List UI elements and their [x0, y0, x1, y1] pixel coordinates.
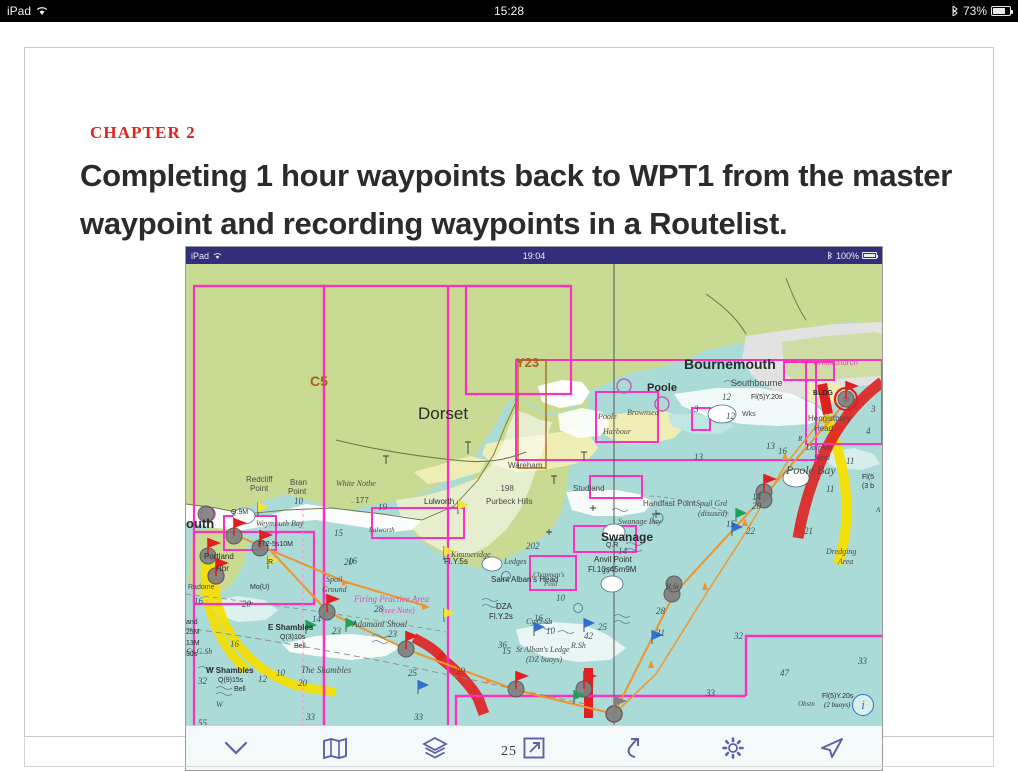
- svg-text:Hbr: Hbr: [216, 564, 229, 573]
- svg-text:Mo(U): Mo(U): [250, 584, 269, 591]
- svg-text:White Nothe: White Nothe: [336, 479, 376, 488]
- svg-text:33: 33: [857, 656, 868, 666]
- svg-text:Ground: Ground: [322, 585, 348, 594]
- svg-text:14: 14: [312, 614, 322, 624]
- status-clock: 15:28: [0, 4, 1018, 18]
- svg-text:(disused): (disused): [698, 509, 728, 518]
- svg-text:47: 47: [780, 668, 790, 678]
- svg-text:Weymouth Bay: Weymouth Bay: [256, 519, 304, 528]
- svg-text:29: 29: [456, 666, 466, 676]
- svg-text:28: 28: [656, 606, 666, 616]
- svg-text:Ledges: Ledges: [503, 557, 527, 566]
- svg-text:33: 33: [413, 712, 424, 722]
- svg-text:Lulworth: Lulworth: [424, 497, 454, 506]
- svg-text:A: A: [875, 506, 881, 514]
- svg-text:Chapman's: Chapman's: [533, 571, 565, 579]
- svg-text:Dolphin: Dolphin: [805, 443, 832, 452]
- svg-text:15: 15: [502, 646, 512, 656]
- svg-text:Q(3)10s: Q(3)10s: [280, 634, 306, 641]
- svg-text:C5: C5: [310, 373, 328, 389]
- svg-text:(see Note): (see Note): [382, 606, 415, 615]
- svg-text:25: 25: [408, 668, 418, 678]
- svg-text:10: 10: [556, 593, 566, 603]
- svg-text:Wks: Wks: [742, 411, 756, 418]
- svg-text:Obstn: Obstn: [798, 700, 815, 708]
- svg-text:Fl.Y.5s: Fl.Y.5s: [444, 557, 468, 566]
- bluetooth-icon: [951, 5, 959, 17]
- page-title: Completing 1 hour waypoints back to WPT1…: [80, 152, 995, 248]
- svg-text:32: 32: [733, 631, 744, 641]
- svg-text:R: R: [797, 435, 803, 443]
- svg-text:R.St: R.St: [665, 582, 680, 591]
- svg-text:Fl.10s45m9M: Fl.10s45m9M: [588, 565, 637, 574]
- svg-text:Bell: Bell: [234, 686, 246, 693]
- svg-text:Adamant Shoal: Adamant Shoal: [351, 619, 408, 629]
- svg-text:Brownsea: Brownsea: [627, 408, 659, 417]
- svg-text:19: 19: [378, 502, 388, 512]
- svg-text:14: 14: [752, 492, 762, 502]
- svg-text:16: 16: [194, 596, 204, 606]
- svg-text:and: and: [186, 619, 198, 626]
- svg-text:Handfast Point: Handfast Point: [643, 499, 696, 508]
- svg-text:Point: Point: [250, 484, 269, 493]
- svg-text:Spoil: Spoil: [326, 575, 343, 584]
- svg-text:Dredging: Dredging: [825, 547, 856, 556]
- svg-text:31: 31: [655, 628, 665, 638]
- svg-text:32: 32: [197, 676, 208, 686]
- svg-text:Sand: Sand: [814, 453, 831, 462]
- svg-text:15: 15: [726, 519, 736, 529]
- svg-text:20: 20: [298, 678, 308, 688]
- svg-text:W Shambles: W Shambles: [206, 666, 254, 675]
- svg-text:Fl(5: Fl(5: [862, 474, 874, 481]
- svg-text:Firing Practice Area: Firing Practice Area: [353, 594, 429, 604]
- svg-text:23: 23: [388, 629, 398, 639]
- svg-text:Redcliff: Redcliff: [246, 475, 273, 484]
- svg-text:16: 16: [230, 639, 240, 649]
- svg-text:Area: Area: [837, 557, 853, 566]
- svg-text:25: 25: [598, 622, 608, 632]
- svg-text:Purbeck Hills: Purbeck Hills: [486, 497, 533, 506]
- screenshot-status-bar: iPad 19:04 100%: [186, 247, 882, 264]
- svg-text:25M: 25M: [186, 629, 200, 636]
- svg-text:13M: 13M: [186, 640, 200, 647]
- svg-text:22: 22: [746, 526, 756, 536]
- svg-text:Y23: Y23: [516, 355, 539, 370]
- svg-text:E Shambles: E Shambles: [268, 623, 314, 632]
- svg-text:Fl(5)Y.20s: Fl(5)Y.20s: [822, 693, 854, 700]
- svg-text:DZA: DZA: [496, 602, 513, 611]
- svg-text:12: 12: [726, 411, 736, 421]
- svg-text:10: 10: [276, 668, 286, 678]
- svg-text:St Alban's Ledge: St Alban's Ledge: [516, 645, 570, 654]
- svg-text:The Shambles: The Shambles: [301, 665, 352, 675]
- svg-text:(DZ buoys): (DZ buoys): [526, 655, 563, 664]
- svg-text:Lulworth: Lulworth: [368, 526, 395, 534]
- chapter-label: CHAPTER 2: [90, 123, 196, 143]
- svg-text:Bell: Bell: [294, 643, 306, 650]
- svg-text:Cy.G.Sh: Cy.G.Sh: [186, 647, 212, 656]
- svg-text:Head: Head: [814, 424, 833, 433]
- svg-text:20: 20: [752, 501, 762, 511]
- svg-text:Fl.2-5s10M: Fl.2-5s10M: [258, 541, 293, 548]
- svg-text:Point: Point: [288, 487, 307, 496]
- svg-text:Studland: Studland: [573, 484, 605, 493]
- svg-text:11: 11: [846, 456, 854, 466]
- svg-text:12: 12: [722, 392, 732, 402]
- svg-text:10: 10: [546, 626, 556, 636]
- svg-text:Q.R: Q.R: [606, 542, 618, 549]
- svg-text:Fl.Y.2s: Fl.Y.2s: [489, 612, 513, 621]
- info-icon[interactable]: i: [852, 694, 874, 716]
- svg-text:15: 15: [334, 528, 344, 538]
- svg-text:23: 23: [332, 626, 342, 636]
- svg-text:16: 16: [778, 446, 788, 456]
- svg-text:.R: .R: [266, 559, 273, 566]
- svg-text:Fl(5)Y.20s: Fl(5)Y.20s: [751, 394, 783, 401]
- svg-text:20: 20: [242, 599, 252, 609]
- document-page: CHAPTER 2 Completing 1 hour waypoints ba…: [24, 47, 994, 737]
- svg-text:Poole Bay: Poole Bay: [785, 463, 836, 477]
- ios-status-bar: iPad 15:28 73%: [0, 0, 1018, 22]
- svg-text:outh: outh: [186, 516, 214, 531]
- svg-text:Spoil Grd: Spoil Grd: [696, 499, 728, 508]
- svg-text:Q(9)15s: Q(9)15s: [218, 677, 244, 684]
- svg-text:33: 33: [305, 712, 316, 722]
- svg-text:Pool: Pool: [543, 580, 557, 588]
- svg-text:10: 10: [294, 496, 304, 506]
- svg-text:42: 42: [584, 631, 594, 641]
- svg-text:13: 13: [766, 441, 776, 451]
- svg-text:Portland: Portland: [204, 552, 234, 561]
- svg-text:Poole: Poole: [597, 412, 617, 421]
- svg-text:12: 12: [258, 674, 268, 684]
- ipad-screenshot: iPad 19:04 100%: [185, 246, 883, 771]
- svg-text:Dorset: Dorset: [418, 404, 468, 423]
- svg-text:Wareham: Wareham: [508, 461, 543, 470]
- bluetooth-icon: [827, 251, 833, 260]
- nautical-chart-canvas[interactable]: 1915201620163212102055333325292323281416…: [186, 264, 882, 726]
- svg-text:. 177: . 177: [351, 496, 369, 505]
- svg-text:Radome: Radome: [188, 584, 215, 591]
- svg-text:16: 16: [348, 556, 358, 566]
- svg-text:(2 buoys): (2 buoys): [824, 701, 851, 709]
- battery-percent-label: 73%: [963, 4, 987, 18]
- svg-text:Swanage Bay: Swanage Bay: [618, 517, 662, 526]
- svg-text:Poole: Poole: [647, 382, 677, 394]
- svg-text:. 198: . 198: [496, 484, 514, 493]
- screenshot-clock: 19:04: [186, 251, 882, 261]
- svg-text:Southbourne: Southbourne: [731, 378, 783, 388]
- svg-text:3: 3: [870, 404, 876, 414]
- svg-text:Bran: Bran: [290, 478, 307, 487]
- svg-text:Christchurch: Christchurch: [813, 358, 858, 367]
- svg-text:3: 3: [693, 404, 699, 414]
- page-number: 25: [24, 737, 994, 767]
- svg-text:Harbour: Harbour: [602, 427, 632, 436]
- svg-text:Q.9M: Q.9M: [231, 509, 248, 516]
- svg-text:4: 4: [866, 426, 871, 436]
- battery-icon: [862, 252, 877, 259]
- svg-text:(3 b: (3 b: [862, 483, 874, 490]
- svg-text:Anvil Point: Anvil Point: [594, 555, 633, 564]
- svg-text:Bournemouth: Bournemouth: [684, 356, 776, 372]
- svg-text:33: 33: [705, 688, 716, 698]
- svg-text:11: 11: [826, 484, 834, 494]
- screenshot-battery-percent: 100%: [836, 251, 859, 261]
- battery-icon: [991, 6, 1011, 16]
- svg-text:BLDG: BLDG: [813, 390, 833, 397]
- svg-text:Cy.G.Sh: Cy.G.Sh: [526, 617, 552, 626]
- svg-text:21: 21: [804, 526, 813, 536]
- svg-text:Hengistbury: Hengistbury: [808, 414, 851, 423]
- svg-text:202: 202: [526, 541, 540, 551]
- svg-text:13: 13: [694, 452, 704, 462]
- svg-text:R.Sh: R.Sh: [570, 641, 586, 650]
